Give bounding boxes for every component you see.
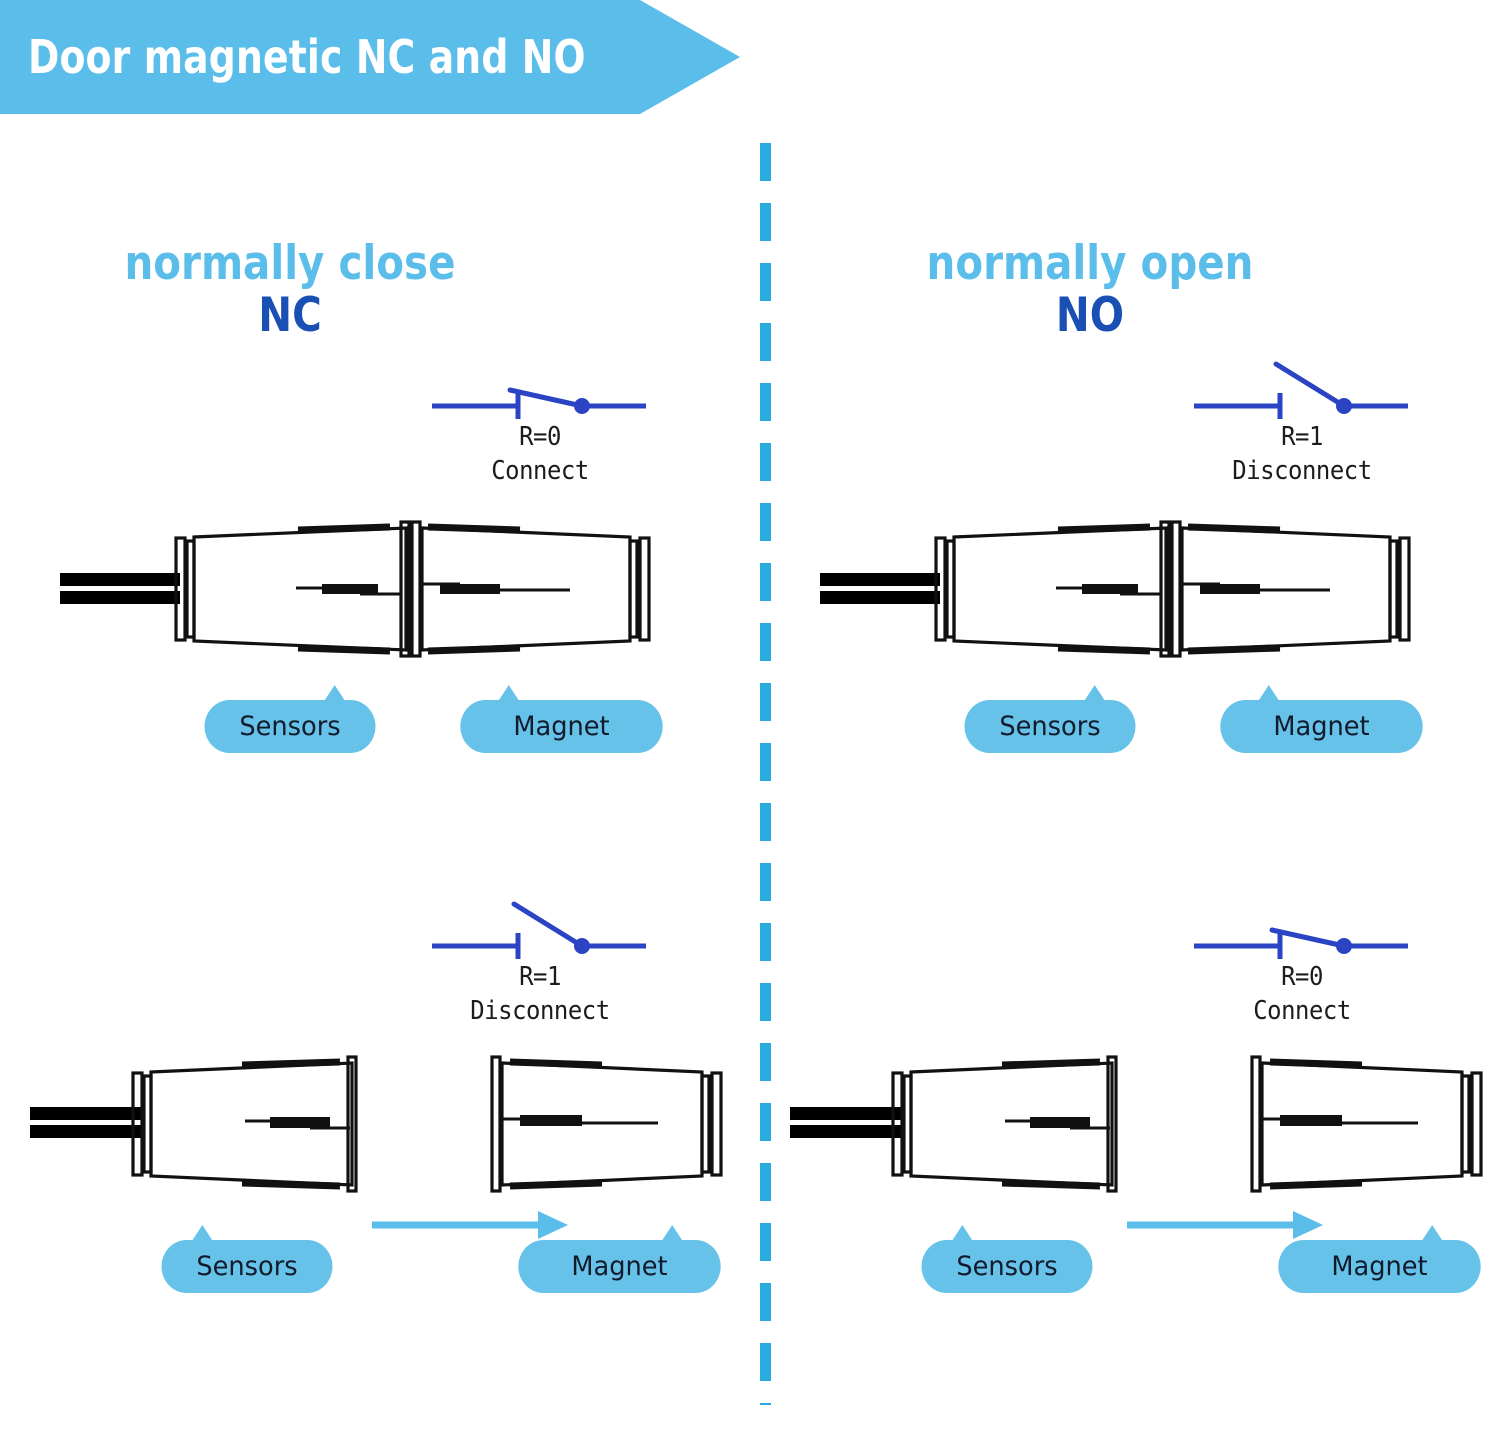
magnet-motion-arrow-icon-nc xyxy=(370,1208,570,1242)
device-drawing-nc-separated-magnet xyxy=(490,1055,740,1210)
heading-normally-open: normally open xyxy=(849,240,1331,287)
switch-caption-resistance-no-closed: R=0 xyxy=(1182,960,1421,994)
switch-caption-connection-no-closed: Connect xyxy=(1182,994,1421,1028)
switch-symbol-block-no-closed: R=0 Connect xyxy=(1172,908,1432,1029)
switch-symbol-block-nc-open: R=1 Disconnect xyxy=(410,898,670,1029)
switch-symbol-block-nc-closed: R=0 Connect xyxy=(410,368,670,489)
switch-caption-connection-no-open: Disconnect xyxy=(1182,454,1421,488)
magnet-unit-icon xyxy=(1250,1055,1500,1205)
label-pill-sensors-no-bottom: Sensors xyxy=(922,1240,1093,1293)
switch-caption-resistance-no-open: R=1 xyxy=(1182,420,1421,454)
magnet-unit-icon xyxy=(490,1055,740,1205)
switch-open-icon xyxy=(430,898,650,960)
label-pill-magnet-no-bottom: Magnet xyxy=(1278,1240,1480,1293)
pill-label-text: Magnet xyxy=(513,711,609,742)
heading-normally-close: normally close xyxy=(49,240,531,287)
device-drawing-no-separated-sensor xyxy=(790,1055,1140,1210)
label-pill-sensors-nc-bottom: Sensors xyxy=(162,1240,333,1293)
sensor-unit-icon xyxy=(790,1055,1140,1205)
device-drawing-no-together xyxy=(820,515,1440,680)
device-drawing-nc-together xyxy=(60,515,680,680)
pill-label-text: Magnet xyxy=(1331,1251,1427,1282)
switch-closed-icon xyxy=(1192,908,1412,960)
pill-label-text: Magnet xyxy=(571,1251,667,1282)
switch-caption-resistance-nc-closed: R=0 xyxy=(420,420,659,454)
column-divider xyxy=(760,143,771,1405)
column-heading-no: normally open NO xyxy=(810,240,1370,346)
label-pill-magnet-nc-bottom: Magnet xyxy=(518,1240,720,1293)
label-pill-sensors-no-top: Sensors xyxy=(965,700,1136,753)
pill-label-text: Sensors xyxy=(196,1251,297,1282)
label-pill-magnet-no-top: Magnet xyxy=(1220,700,1422,753)
pill-label-text: Sensors xyxy=(956,1251,1057,1282)
pill-label-text: Sensors xyxy=(239,711,340,742)
switch-caption-resistance-nc-open: R=1 xyxy=(420,960,659,994)
column-heading-nc: normally close NC xyxy=(10,240,570,346)
label-pill-magnet-nc-top: Magnet xyxy=(460,700,662,753)
device-drawing-nc-separated-sensor xyxy=(30,1055,380,1210)
header-banner: Door magnetic NC and NO xyxy=(0,0,740,114)
heading-abbr-nc: NC xyxy=(49,287,531,346)
switch-caption-connection-nc-closed: Connect xyxy=(420,454,659,488)
switch-closed-icon xyxy=(430,368,650,420)
sensor-magnet-assembly-icon xyxy=(60,515,680,675)
sensor-magnet-assembly-icon xyxy=(820,515,1440,675)
device-drawing-no-separated-magnet xyxy=(1250,1055,1500,1210)
label-pill-sensors-nc-top: Sensors xyxy=(205,700,376,753)
pill-label-text: Sensors xyxy=(999,711,1100,742)
heading-abbr-no: NO xyxy=(849,287,1331,346)
pill-label-text: Magnet xyxy=(1273,711,1369,742)
switch-open-icon xyxy=(1192,358,1412,420)
switch-symbol-block-no-open: R=1 Disconnect xyxy=(1172,358,1432,489)
magnet-motion-arrow-icon-no xyxy=(1125,1208,1325,1242)
switch-caption-connection-nc-open: Disconnect xyxy=(420,994,659,1028)
sensor-unit-icon xyxy=(30,1055,380,1205)
page-title: Door magnetic NC and NO xyxy=(28,30,586,84)
